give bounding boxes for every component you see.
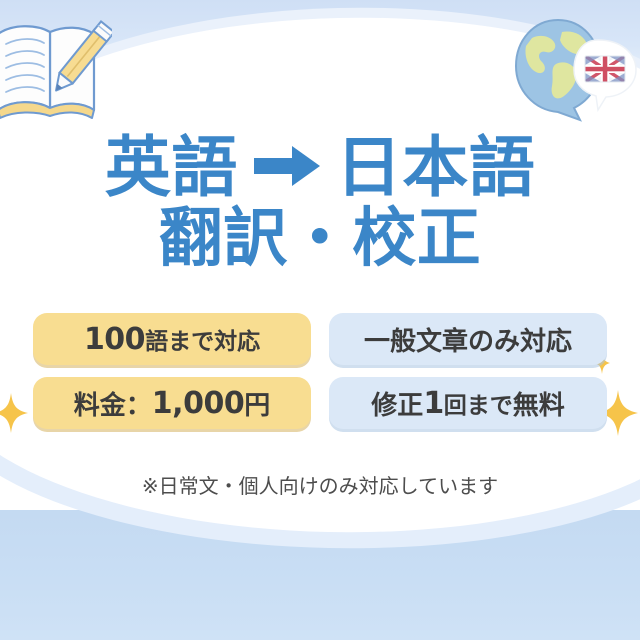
feature-badges: 100語まで対応 一般文章のみ対応 料金：1,000円 修正1回まで無料 <box>0 313 640 429</box>
headline: 英語 日本語 翻訳・校正 <box>0 134 640 273</box>
badge-revision-free: 無料 <box>513 385 565 422</box>
book-and-pencil-icon <box>0 12 112 127</box>
badge-word-limit-text: 語まで対応 <box>145 322 260 356</box>
badge-word-limit[interactable]: 100語まで対応 <box>33 313 311 365</box>
headline-row-languages: 英語 日本語 <box>0 134 640 201</box>
right-arrow-icon <box>252 143 322 192</box>
badge-revision-suffix: 回まで <box>444 386 513 420</box>
badge-word-limit-number: 100 <box>84 322 145 357</box>
badge-price-label: 料金： <box>74 385 152 422</box>
badge-revision-label: 修正 <box>371 385 423 422</box>
badge-row-1: 100語まで対応 一般文章のみ対応 <box>33 313 607 365</box>
badge-price-unit: 円 <box>244 385 270 422</box>
source-language-label: 英語 <box>105 134 238 201</box>
badge-text-type-text: 一般文章のみ対応 <box>364 321 572 358</box>
globe-speech-bubble-icon <box>502 14 638 126</box>
badge-revision[interactable]: 修正1回まで無料 <box>329 377 607 429</box>
service-label: 翻訳・校正 <box>159 207 482 272</box>
headline-row-service: 翻訳・校正 <box>0 207 640 272</box>
uk-flag-icon <box>585 56 625 82</box>
badge-price[interactable]: 料金：1,000円 <box>33 377 311 429</box>
badge-text-type[interactable]: 一般文章のみ対応 <box>329 313 607 365</box>
badge-price-amount: 1,000 <box>152 386 244 421</box>
target-language-label: 日本語 <box>336 134 536 201</box>
badge-row-2: 料金：1,000円 修正1回まで無料 <box>33 377 607 429</box>
disclaimer-note: ※日常文・個人向けのみ対応しています <box>0 470 640 499</box>
promo-banner: 英語 日本語 翻訳・校正 100語まで対応 <box>0 0 640 640</box>
badge-revision-count: 1 <box>423 386 443 421</box>
